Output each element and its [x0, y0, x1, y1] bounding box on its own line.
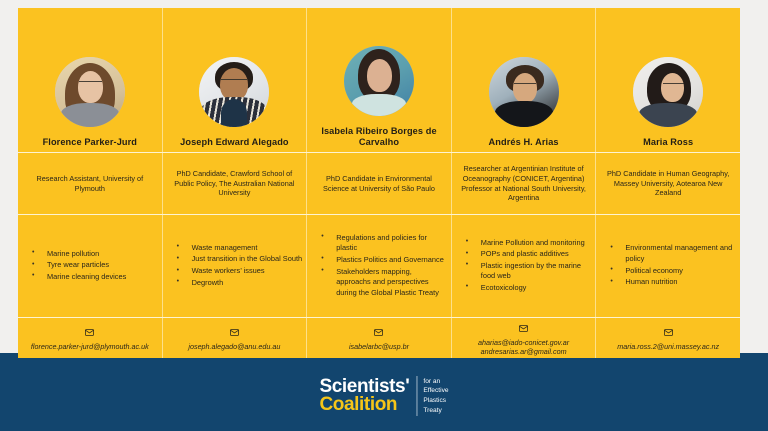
person-name: Florence Parker-Jurd — [43, 137, 137, 148]
topic-item: Waste management — [173, 243, 303, 254]
role-cell-1: PhD Candidate, Crawford School of Public… — [163, 153, 308, 214]
email-text[interactable]: joseph.alegado@anu.edu.au — [188, 342, 280, 351]
email-cell-3: aharias@iado-conicet.gov.ar andresarias.… — [452, 318, 597, 358]
topic-item: Plastic ingestion by the marine food web — [462, 261, 592, 282]
topics-cell-2: Regulations and policies for plastic Pla… — [307, 215, 452, 317]
scientists-coalition-logo: Scientists' Coalition for an Effective P… — [319, 375, 448, 417]
topics-cell-0: Marine pollution Tyre wear particles Mar… — [18, 215, 163, 317]
topic-item: Marine Pollution and monitoring — [462, 238, 592, 249]
logo-line-coalition: Coalition — [319, 396, 397, 414]
topics-list: Waste management Just transition in the … — [173, 243, 303, 289]
person-card-3: Andrés H. Arias — [452, 8, 597, 152]
envelope-icon — [519, 320, 528, 336]
email-cell-2: isabelarbc@usp.br — [307, 318, 452, 358]
avatar-florence-parker-jurd — [55, 57, 125, 127]
person-role: PhD Candidate, Crawford School of Public… — [169, 169, 301, 198]
topic-item: Degrowth — [173, 278, 303, 289]
topic-item: Plastics Politics and Governance — [317, 255, 447, 266]
person-card-2: Isabela Ribeiro Borges de Carvalho — [307, 8, 452, 152]
roles-row: Research Assistant, University of Plymou… — [18, 153, 740, 215]
avatar-andres-h-arias — [489, 57, 559, 127]
role-cell-4: PhD Candidate in Human Geography, Massey… — [596, 153, 740, 214]
topic-item: POPs and plastic additives — [462, 249, 592, 260]
topic-item: Tyre wear particles — [28, 260, 158, 271]
email-text[interactable]: isabelarbc@usp.br — [349, 342, 409, 351]
person-role: Researcher at Argentinian Institute of O… — [458, 164, 590, 203]
envelope-icon — [374, 324, 383, 340]
logo-tagline-line-2: Effective — [423, 386, 448, 396]
topic-item: Marine pollution — [28, 249, 158, 260]
email-cell-4: maria.ross.2@uni.massey.ac.nz — [596, 318, 740, 358]
photos-row: Florence Parker-Jurd Joseph Edward Alega… — [18, 8, 740, 153]
email-text[interactable]: maria.ross.2@uni.massey.ac.nz — [617, 342, 719, 351]
logo-tagline-line-3: Plastics — [423, 396, 448, 406]
topic-item: Political economy — [606, 266, 736, 277]
person-card-1: Joseph Edward Alegado — [163, 8, 308, 152]
person-card-4: Maria Ross — [596, 8, 740, 152]
topics-cell-3: Marine Pollution and monitoring POPs and… — [452, 215, 597, 317]
email-cell-1: joseph.alegado@anu.edu.au — [163, 318, 308, 358]
role-cell-2: PhD Candidate in Environmental Science a… — [307, 153, 452, 214]
envelope-icon — [230, 324, 239, 340]
topic-item: Ecotoxicology — [462, 283, 592, 294]
topic-item: Human nutrition — [606, 277, 736, 288]
logo-tagline-line-4: Treaty — [423, 406, 448, 416]
email-text[interactable]: aharias@iado-conicet.gov.ar andresarias.… — [458, 338, 590, 357]
person-name: Maria Ross — [643, 137, 693, 148]
role-cell-0: Research Assistant, University of Plymou… — [18, 153, 163, 214]
topics-list: Regulations and policies for plastic Pla… — [317, 233, 447, 299]
topic-item: Regulations and policies for plastic — [317, 233, 447, 254]
avatar-maria-ross — [633, 57, 703, 127]
email-cell-0: florence.parker-jurd@plymouth.ac.uk — [18, 318, 163, 358]
topics-cell-4: Environmental management and policy Poli… — [596, 215, 740, 317]
topics-list: Marine pollution Tyre wear particles Mar… — [28, 249, 158, 284]
topic-item: Marine cleaning devices — [28, 272, 158, 283]
speakers-panel: Florence Parker-Jurd Joseph Edward Alega… — [18, 8, 740, 358]
emails-row: florence.parker-jurd@plymouth.ac.uk jose… — [18, 318, 740, 358]
logo-wordmark: Scientists' Coalition — [319, 378, 409, 415]
person-name: Isabela Ribeiro Borges de Carvalho — [313, 126, 445, 148]
topic-item: Environmental management and policy — [606, 243, 736, 264]
topics-cell-1: Waste management Just transition in the … — [163, 215, 308, 317]
topics-list: Marine Pollution and monitoring POPs and… — [462, 238, 592, 295]
person-name: Joseph Edward Alegado — [180, 137, 288, 148]
person-card-0: Florence Parker-Jurd — [18, 8, 163, 152]
slide-canvas: Florence Parker-Jurd Joseph Edward Alega… — [0, 0, 768, 431]
topics-list: Environmental management and policy Poli… — [606, 243, 736, 288]
envelope-icon — [664, 324, 673, 340]
person-role: PhD Candidate in Environmental Science a… — [313, 174, 445, 193]
logo-tagline: for an Effective Plastics Treaty — [423, 377, 448, 415]
role-cell-3: Researcher at Argentinian Institute of O… — [452, 153, 597, 214]
avatar-joseph-edward-alegado — [199, 57, 269, 127]
logo-divider — [416, 376, 417, 416]
person-name: Andrés H. Arias — [489, 137, 559, 148]
topics-row: Marine pollution Tyre wear particles Mar… — [18, 215, 740, 318]
topic-item: Waste workers’ issues — [173, 266, 303, 277]
person-role: PhD Candidate in Human Geography, Massey… — [602, 169, 734, 198]
topic-item: Stakeholders mapping, approachs and pers… — [317, 267, 447, 299]
avatar-isabela-ribeiro-borges-de-carvalho — [344, 46, 414, 116]
topic-item: Just transition in the Global South — [173, 254, 303, 265]
person-role: Research Assistant, University of Plymou… — [24, 174, 156, 193]
envelope-icon — [85, 324, 94, 340]
logo-tagline-line-1: for an — [423, 377, 448, 387]
email-text[interactable]: florence.parker-jurd@plymouth.ac.uk — [31, 342, 149, 351]
